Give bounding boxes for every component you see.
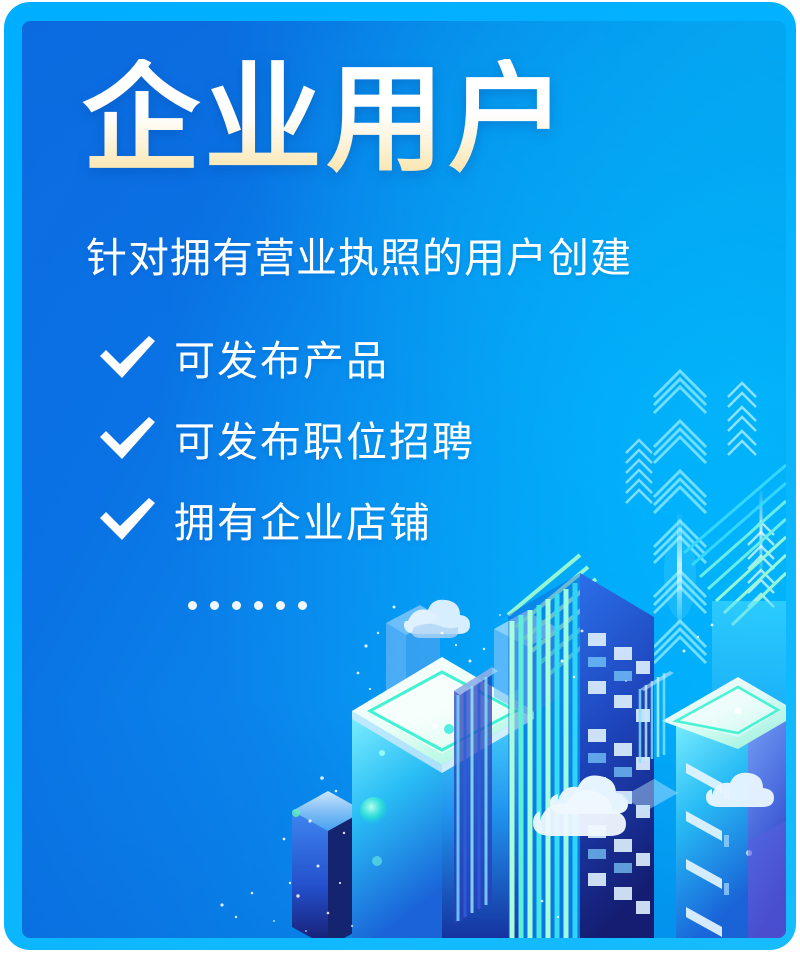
dot <box>276 601 285 610</box>
ellipsis-dots <box>188 601 307 610</box>
list-item-label: 拥有企业店铺 <box>174 489 432 549</box>
list-item: 可发布产品 <box>96 326 475 388</box>
list-item: 拥有企业店铺 <box>96 488 475 550</box>
outer-card: 企业用户 针对拥有营业执照的用户创建 可发布产品 <box>4 2 796 950</box>
poster-canvas: 企业用户 针对拥有营业执照的用户创建 可发布产品 <box>0 0 800 954</box>
list-item-label: 可发布职位招聘 <box>174 408 475 468</box>
striped-tower-mint <box>508 555 654 938</box>
page-title: 企业用户 <box>82 59 570 182</box>
check-icon <box>96 496 158 542</box>
list-item: 可发布职位招聘 <box>96 407 475 469</box>
dot <box>188 601 197 610</box>
dot <box>298 601 307 610</box>
text-block: 企业用户 针对拥有营业执照的用户创建 可发布产品 <box>22 21 786 581</box>
feature-list: 可发布产品 可发布职位招聘 <box>96 326 475 569</box>
page-subtitle: 针对拥有营业执照的用户创建 <box>86 234 632 283</box>
cloud <box>404 600 470 638</box>
poster-panel: 企业用户 针对拥有营业执照的用户创建 可发布产品 <box>22 21 786 938</box>
check-icon <box>96 415 158 461</box>
violet-slab <box>748 821 786 938</box>
dot <box>210 601 219 610</box>
dot <box>232 601 241 610</box>
check-icon <box>96 334 158 380</box>
dot <box>254 601 263 610</box>
list-item-label: 可发布产品 <box>174 327 389 387</box>
thin-stripe-tower <box>454 667 498 925</box>
